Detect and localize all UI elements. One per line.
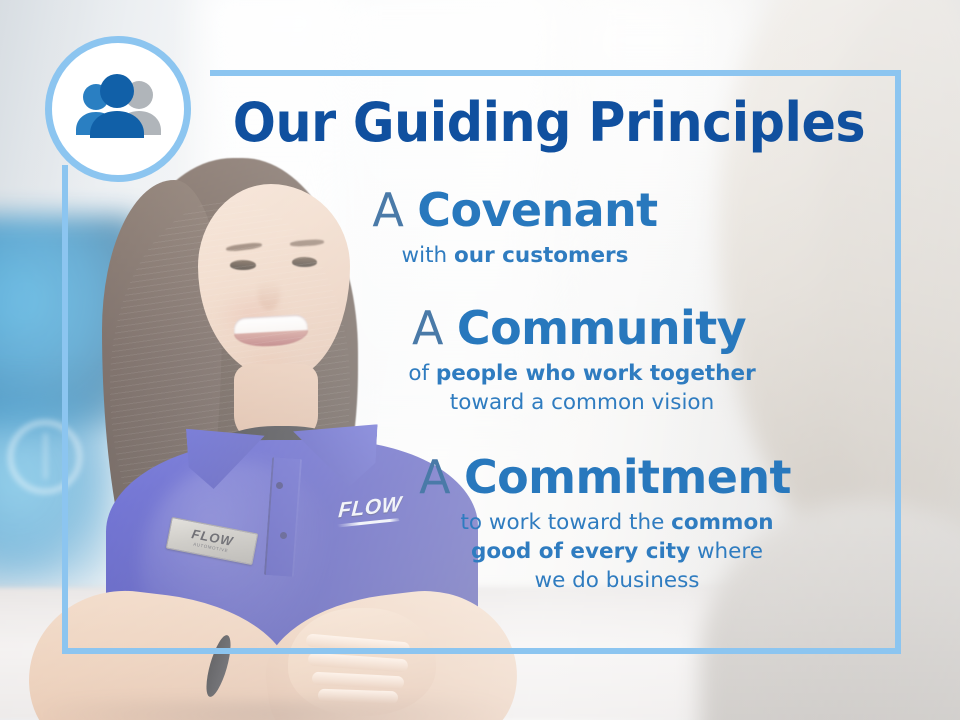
principle-article: A bbox=[372, 183, 417, 237]
people-group-icon bbox=[66, 72, 170, 146]
subtitle-span: we do business bbox=[535, 568, 700, 593]
principle-covenant-subtitle: with our customers bbox=[150, 241, 880, 270]
principle-commitment-subtitle: to work toward the common good of every … bbox=[320, 508, 890, 596]
subtitle-span: to work toward the bbox=[460, 510, 671, 535]
principle-commitment: A Commitment to work toward the common g… bbox=[150, 453, 890, 595]
frame-border-top bbox=[210, 70, 901, 76]
subtitle-span: toward a common vision bbox=[450, 390, 714, 415]
principle-covenant-title: A Covenant bbox=[150, 186, 880, 235]
subtitle-line: to work toward the common bbox=[344, 508, 890, 537]
principle-keyword: Covenant bbox=[417, 183, 657, 237]
principle-commitment-title: A Commitment bbox=[320, 453, 890, 502]
subtitle-span: with bbox=[402, 243, 454, 268]
principle-article: A bbox=[412, 301, 457, 355]
subtitle-span-bold: good of every city bbox=[471, 539, 690, 564]
subtitle-line: of people who work together bbox=[274, 359, 890, 388]
principle-community: A Community of people who work together … bbox=[150, 304, 890, 417]
frame-border-left bbox=[62, 165, 68, 654]
subtitle-line: good of every city where bbox=[344, 537, 890, 566]
people-group-badge bbox=[45, 36, 191, 182]
subtitle-line: toward a common vision bbox=[274, 388, 890, 417]
frame-border-bottom bbox=[62, 648, 901, 654]
principle-covenant: A Covenant with our customers bbox=[150, 186, 890, 270]
principle-article: A bbox=[419, 450, 464, 504]
principle-keyword: Commitment bbox=[464, 450, 791, 504]
subtitle-span: where bbox=[690, 539, 763, 564]
subtitle-span-bold: our customers bbox=[454, 243, 628, 268]
frame-border-right bbox=[895, 70, 901, 654]
principle-community-subtitle: of people who work together toward a com… bbox=[268, 359, 890, 417]
subtitle-span: of bbox=[408, 361, 436, 386]
subtitle-span-bold: common bbox=[671, 510, 773, 535]
principle-keyword: Community bbox=[457, 301, 746, 355]
subtitle-line: we do business bbox=[344, 566, 890, 595]
subtitle-line: with our customers bbox=[150, 241, 880, 270]
page-title: Our Guiding Principles bbox=[233, 96, 853, 150]
subtitle-span-bold: people who work together bbox=[436, 361, 756, 386]
guiding-principles-poster: FLOW AUTOMOTIVE FLOW bbox=[0, 0, 960, 720]
principle-community-title: A Community bbox=[268, 304, 890, 353]
principles-list: A Covenant with our customers A Communit… bbox=[150, 186, 890, 600]
